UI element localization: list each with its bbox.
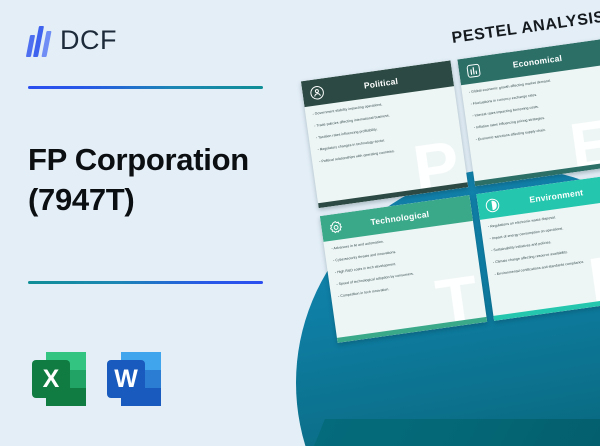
pestel-card-environment[interactable]: Environment E Regulations on electronic … <box>476 173 600 321</box>
card-title-technological: Technological <box>348 204 465 230</box>
gear-icon <box>328 218 345 235</box>
pestel-card-grid: Political P Government stability impacti… <box>301 37 600 347</box>
background-band-decoration <box>314 419 600 446</box>
company-name: FP Corporation <box>28 140 290 180</box>
word-file-icon[interactable]: W <box>107 352 161 406</box>
brand-logo-text: DCF <box>60 25 117 56</box>
bar-chart-icon <box>465 62 482 79</box>
slide-canvas: DCF FP Corporation (7947T) X W PESTEL AN… <box>0 0 600 446</box>
pestel-card-political[interactable]: Political P Government stability impacti… <box>301 60 468 208</box>
left-panel: DCF FP Corporation (7947T) X W <box>0 0 300 446</box>
page-title: FP Corporation (7947T) <box>28 140 290 221</box>
excel-file-icon[interactable]: X <box>32 352 86 406</box>
excel-glyph: X <box>32 360 70 398</box>
leaf-icon <box>484 197 501 214</box>
card-title-environment: Environment <box>504 182 600 208</box>
card-list-political: Government stability impacting operation… <box>305 93 462 165</box>
divider-bottom <box>28 281 263 284</box>
company-ticker: (7947T) <box>28 180 290 220</box>
word-glyph: W <box>107 360 145 398</box>
brand-logo[interactable]: DCF <box>28 24 117 57</box>
card-title-political: Political <box>329 69 446 95</box>
card-list-technological: Advances in AI and automation. Cybersecu… <box>324 228 481 300</box>
pestel-card-technological[interactable]: Technological T Advances in AI and autom… <box>320 195 487 343</box>
pestel-card-economical[interactable]: Economical E Global economic growth affe… <box>457 38 600 186</box>
divider-top <box>28 86 263 89</box>
export-icon-group: X W <box>32 352 161 406</box>
bar-chart-logo-icon <box>28 24 53 57</box>
person-shield-icon <box>309 84 326 101</box>
card-title-economical: Economical <box>485 47 600 73</box>
